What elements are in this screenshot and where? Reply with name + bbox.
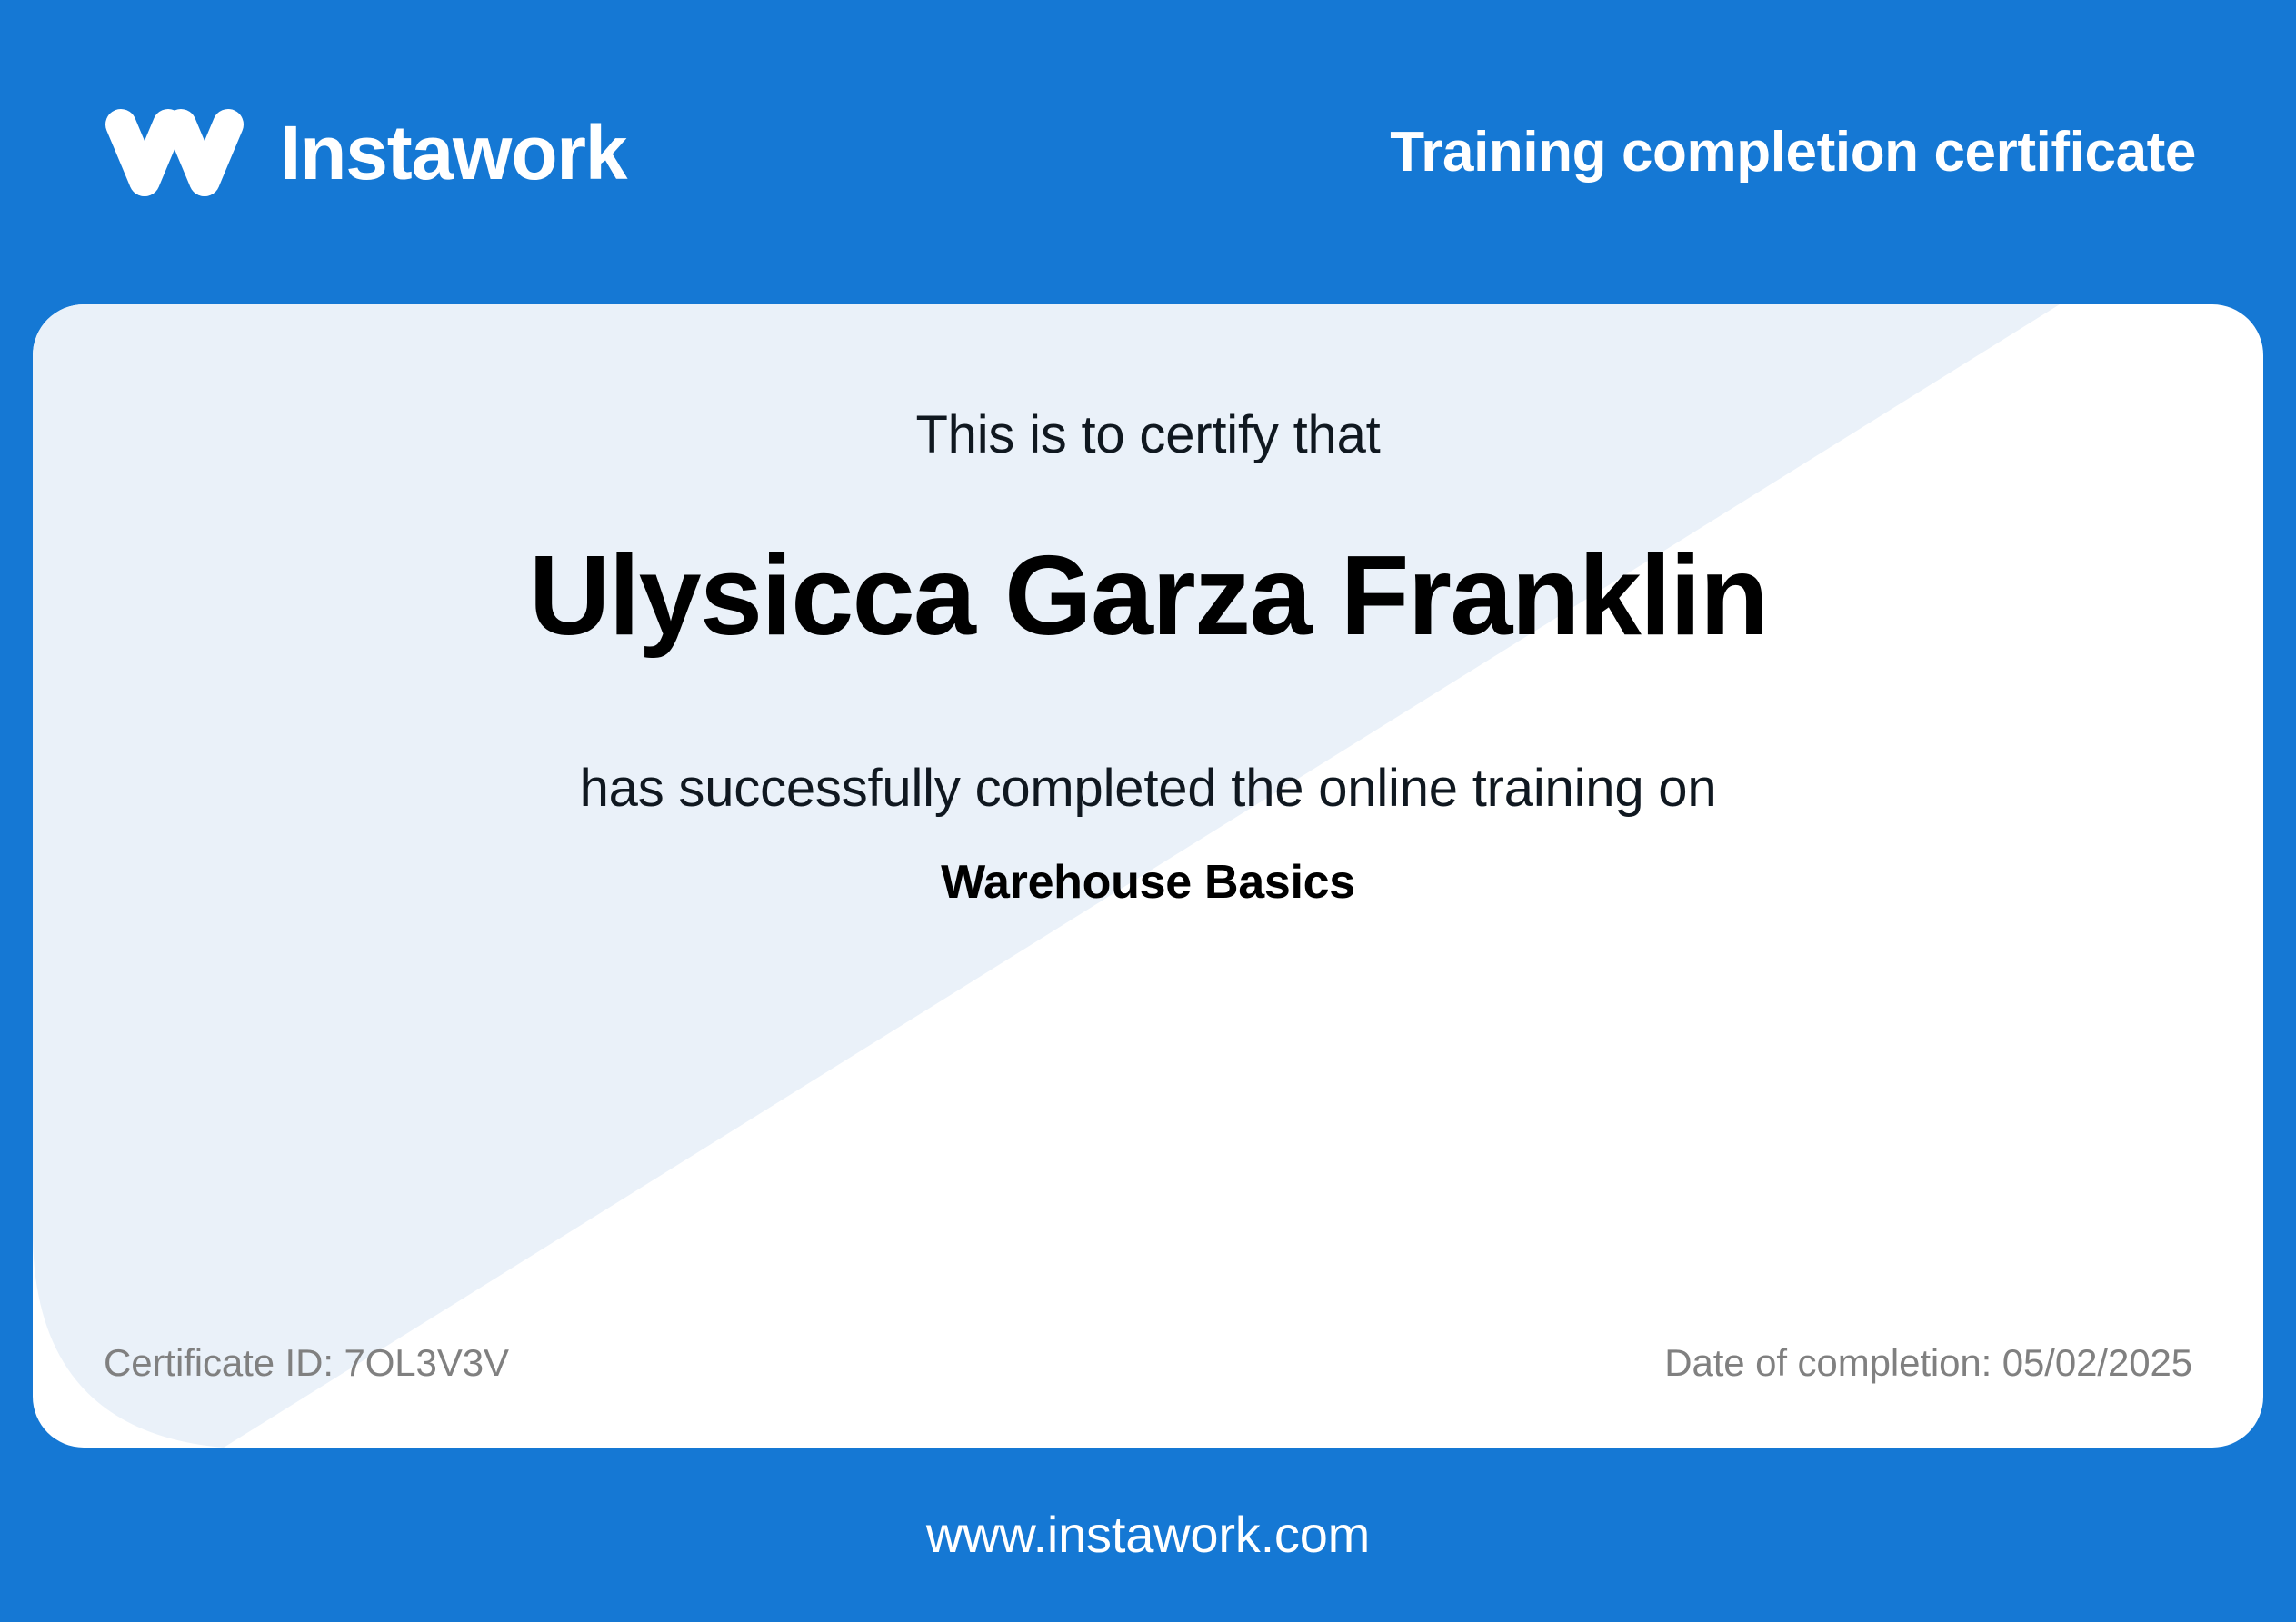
certify-line: This is to certify that bbox=[33, 409, 2263, 462]
instawork-w-logo-icon bbox=[102, 109, 247, 196]
certificate-card: This is to certify that Ulysicca Garza F… bbox=[33, 304, 2263, 1448]
certificate-meta-row: Certificate ID: 7OL3V3V Date of completi… bbox=[33, 1344, 2263, 1382]
course-name: Warehouse Basics bbox=[33, 859, 2263, 906]
certificate-body: This is to certify that Ulysicca Garza F… bbox=[33, 304, 2263, 1448]
page-footer: www.instawork.com bbox=[0, 1448, 2296, 1622]
brand-lockup: Instawork bbox=[102, 109, 626, 196]
completion-statement: has successfully completed the online tr… bbox=[33, 762, 2263, 815]
certificate-page: Instawork Training completion certificat… bbox=[0, 0, 2296, 1622]
website-link[interactable]: www.instawork.com bbox=[926, 1509, 1370, 1560]
certificate-id: Certificate ID: 7OL3V3V bbox=[104, 1344, 509, 1382]
completion-date: Date of completion: 05/02/2025 bbox=[1664, 1344, 2192, 1382]
recipient-name: Ulysicca Garza Franklin bbox=[33, 530, 2263, 662]
page-title: Training completion certificate bbox=[1390, 124, 2196, 181]
brand-name: Instawork bbox=[280, 114, 626, 191]
page-header: Instawork Training completion certificat… bbox=[0, 0, 2296, 304]
